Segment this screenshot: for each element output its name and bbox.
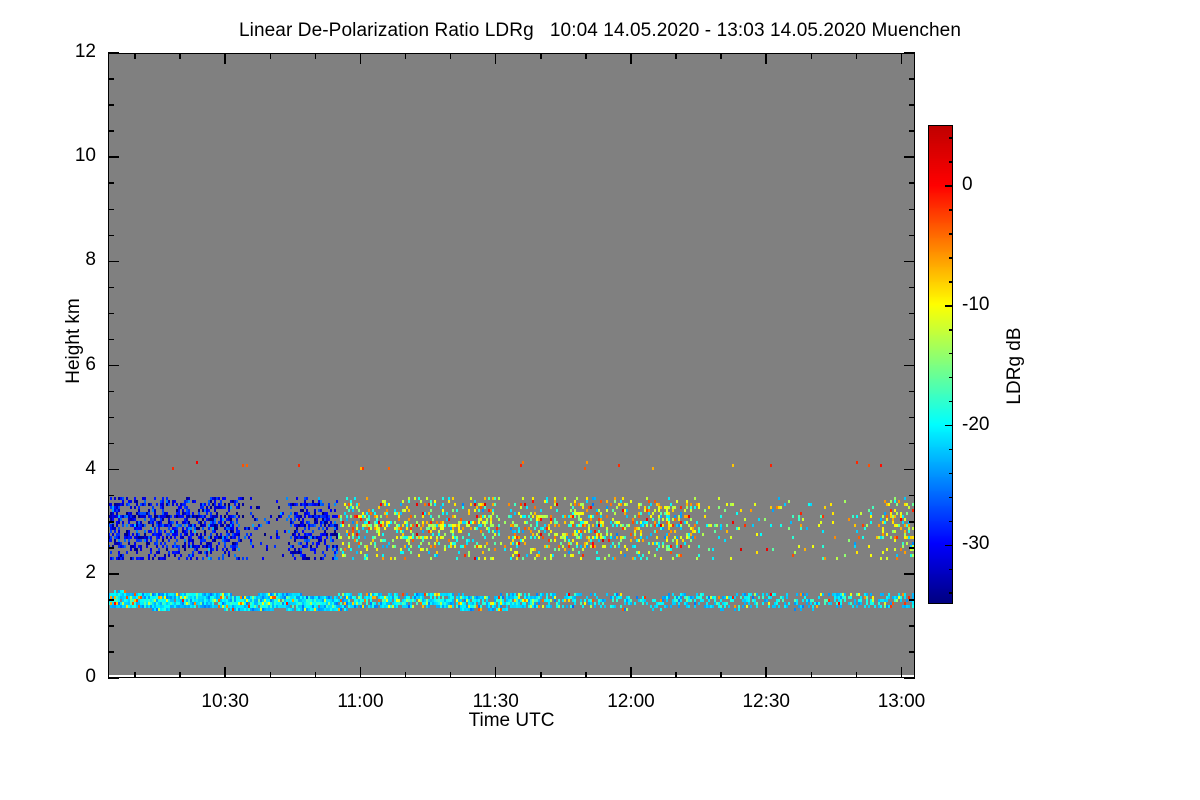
- colorbar-minor-tick: [949, 161, 953, 163]
- y-axis-major-tick-right: [904, 469, 915, 471]
- x-axis-minor-tick: [585, 672, 587, 678]
- page-title: Linear De-Polarization Ratio LDRg 10:04 …: [0, 20, 1200, 42]
- y-axis-minor-tick: [108, 235, 114, 237]
- y-axis-minor-tick: [108, 78, 114, 80]
- y-axis-minor-tick-right: [909, 209, 915, 211]
- colorbar-tick-label: -10: [962, 295, 989, 314]
- y-axis-major-tick-right: [904, 573, 915, 575]
- y-axis-tick-label: 2: [22, 563, 96, 582]
- colorbar-major-tick: [945, 305, 953, 307]
- colorbar-minor-tick: [949, 137, 953, 139]
- colorbar-minor-tick: [949, 569, 953, 571]
- y-axis-tick-label: 0: [22, 667, 96, 686]
- y-axis-minor-tick-right: [909, 521, 915, 523]
- x-axis-minor-tick-top: [675, 53, 677, 59]
- x-axis-major-tick: [224, 667, 226, 678]
- y-axis-minor-tick-right: [909, 104, 915, 106]
- colorbar-title: LDRg dB: [1004, 291, 1026, 441]
- colorbar-minor-tick: [949, 329, 953, 331]
- x-axis-minor-tick-top: [315, 53, 317, 59]
- x-axis-major-tick: [630, 667, 632, 678]
- x-axis-tick-label: 13:00: [846, 692, 956, 711]
- y-axis-minor-tick-right: [909, 651, 915, 653]
- x-axis-minor-tick-top: [405, 53, 407, 59]
- x-axis-title: Time UTC: [108, 710, 915, 732]
- colorbar-minor-tick: [949, 353, 953, 355]
- y-axis-minor-tick: [108, 287, 114, 289]
- y-axis-major-tick-right: [904, 365, 915, 367]
- y-axis-minor-tick-right: [909, 443, 915, 445]
- x-axis-major-tick: [360, 667, 362, 678]
- y-axis-title: Height km: [63, 261, 85, 421]
- colorbar-minor-tick: [949, 377, 953, 379]
- y-axis-minor-tick: [108, 521, 114, 523]
- y-axis-minor-tick: [108, 313, 114, 315]
- y-axis-tick-label: 10: [22, 146, 96, 165]
- y-axis-tick-label: 4: [22, 459, 96, 478]
- x-axis-minor-tick: [856, 672, 858, 678]
- y-axis-minor-tick-right: [909, 287, 915, 289]
- colorbar-tick-label: -30: [962, 534, 989, 553]
- y-axis-major-tick: [108, 365, 119, 367]
- x-axis-minor-tick-top: [720, 53, 722, 59]
- y-axis-major-tick: [108, 156, 119, 158]
- x-axis-tick-label: 12:00: [576, 692, 686, 711]
- y-axis-minor-tick: [108, 651, 114, 653]
- x-axis-major-tick: [901, 667, 903, 678]
- y-axis-minor-tick-right: [909, 417, 915, 419]
- x-axis-minor-tick: [315, 672, 317, 678]
- x-axis-minor-tick-top: [270, 53, 272, 59]
- y-axis-minor-tick: [108, 417, 114, 419]
- x-axis-tick-label: 11:00: [305, 692, 415, 711]
- x-axis-minor-tick: [720, 672, 722, 678]
- y-axis-minor-tick: [108, 391, 114, 393]
- y-axis-minor-tick-right: [909, 625, 915, 627]
- colorbar: [928, 125, 953, 604]
- x-axis-minor-tick: [134, 672, 136, 678]
- y-axis-minor-tick-right: [909, 130, 915, 132]
- x-axis-major-tick: [765, 667, 767, 678]
- x-axis-minor-tick: [811, 672, 813, 678]
- colorbar-minor-tick: [949, 497, 953, 499]
- colorbar-minor-tick: [949, 449, 953, 451]
- x-axis-major-tick-top: [360, 53, 362, 64]
- colorbar-major-tick: [945, 545, 953, 547]
- colorbar-minor-tick: [949, 233, 953, 235]
- radar-ldr-quicklook-figure: Linear De-Polarization Ratio LDRg 10:04 …: [0, 0, 1200, 800]
- x-axis-minor-tick: [270, 672, 272, 678]
- colorbar-gradient: [928, 125, 953, 604]
- y-axis-minor-tick-right: [909, 339, 915, 341]
- y-axis-major-tick-right: [904, 677, 915, 679]
- x-axis-minor-tick: [405, 672, 407, 678]
- plot-data-area: [108, 53, 915, 678]
- x-axis-major-tick-top: [765, 53, 767, 64]
- x-axis-minor-tick-top: [540, 53, 542, 59]
- y-axis-minor-tick-right: [909, 391, 915, 393]
- y-axis-minor-tick-right: [909, 235, 915, 237]
- x-axis-major-tick-top: [224, 53, 226, 64]
- x-axis-minor-tick-top: [179, 53, 181, 59]
- y-axis-minor-tick: [108, 209, 114, 211]
- x-axis-minor-tick: [450, 672, 452, 678]
- y-axis-minor-tick: [108, 182, 114, 184]
- x-axis-tick-label: 10:30: [170, 692, 280, 711]
- y-axis-minor-tick-right: [909, 313, 915, 315]
- y-axis-minor-tick: [108, 625, 114, 627]
- colorbar-minor-tick: [949, 209, 953, 211]
- colorbar-minor-tick: [949, 401, 953, 403]
- colorbar-minor-tick: [949, 257, 953, 259]
- y-axis-major-tick-right: [904, 261, 915, 263]
- y-axis-minor-tick-right: [909, 182, 915, 184]
- colorbar-minor-tick: [949, 281, 953, 283]
- y-axis-major-tick: [108, 52, 119, 54]
- y-axis-minor-tick-right: [909, 547, 915, 549]
- y-axis-minor-tick-right: [909, 78, 915, 80]
- y-axis-minor-tick: [108, 104, 114, 106]
- colorbar-minor-tick: [949, 473, 953, 475]
- ldr-heatmap-canvas: [108, 53, 915, 678]
- y-axis-minor-tick-right: [909, 495, 915, 497]
- colorbar-tick-label: 0: [962, 175, 973, 194]
- x-axis-minor-tick-top: [585, 53, 587, 59]
- x-axis-minor-tick-top: [450, 53, 452, 59]
- y-axis-major-tick: [108, 677, 119, 679]
- y-axis-minor-tick-right: [909, 599, 915, 601]
- y-axis-minor-tick: [108, 495, 114, 497]
- y-axis-major-tick: [108, 573, 119, 575]
- x-axis-minor-tick: [179, 672, 181, 678]
- x-axis-major-tick-top: [495, 53, 497, 64]
- y-axis-major-tick-right: [904, 52, 915, 54]
- x-axis-minor-tick: [540, 672, 542, 678]
- y-axis-major-tick-right: [904, 156, 915, 158]
- y-axis-minor-tick: [108, 599, 114, 601]
- y-axis-major-tick: [108, 261, 119, 263]
- x-axis-minor-tick-top: [856, 53, 858, 59]
- y-axis-minor-tick: [108, 339, 114, 341]
- y-axis-minor-tick: [108, 443, 114, 445]
- colorbar-tick-label: -20: [962, 415, 989, 434]
- x-axis-major-tick: [495, 667, 497, 678]
- x-axis-major-tick-top: [901, 53, 903, 64]
- x-axis-minor-tick: [675, 672, 677, 678]
- colorbar-major-tick: [945, 185, 953, 187]
- colorbar-minor-tick: [949, 592, 953, 594]
- colorbar-major-tick: [945, 425, 953, 427]
- x-axis-minor-tick-top: [134, 53, 136, 59]
- y-axis-major-tick: [108, 469, 119, 471]
- y-axis-minor-tick: [108, 547, 114, 549]
- x-axis-tick-label: 12:30: [711, 692, 821, 711]
- x-axis-minor-tick-top: [811, 53, 813, 59]
- y-axis-tick-label: 12: [22, 42, 96, 61]
- x-axis-major-tick-top: [630, 53, 632, 64]
- y-axis-minor-tick: [108, 130, 114, 132]
- colorbar-minor-tick: [949, 521, 953, 523]
- x-axis-tick-label: 11:30: [441, 692, 551, 711]
